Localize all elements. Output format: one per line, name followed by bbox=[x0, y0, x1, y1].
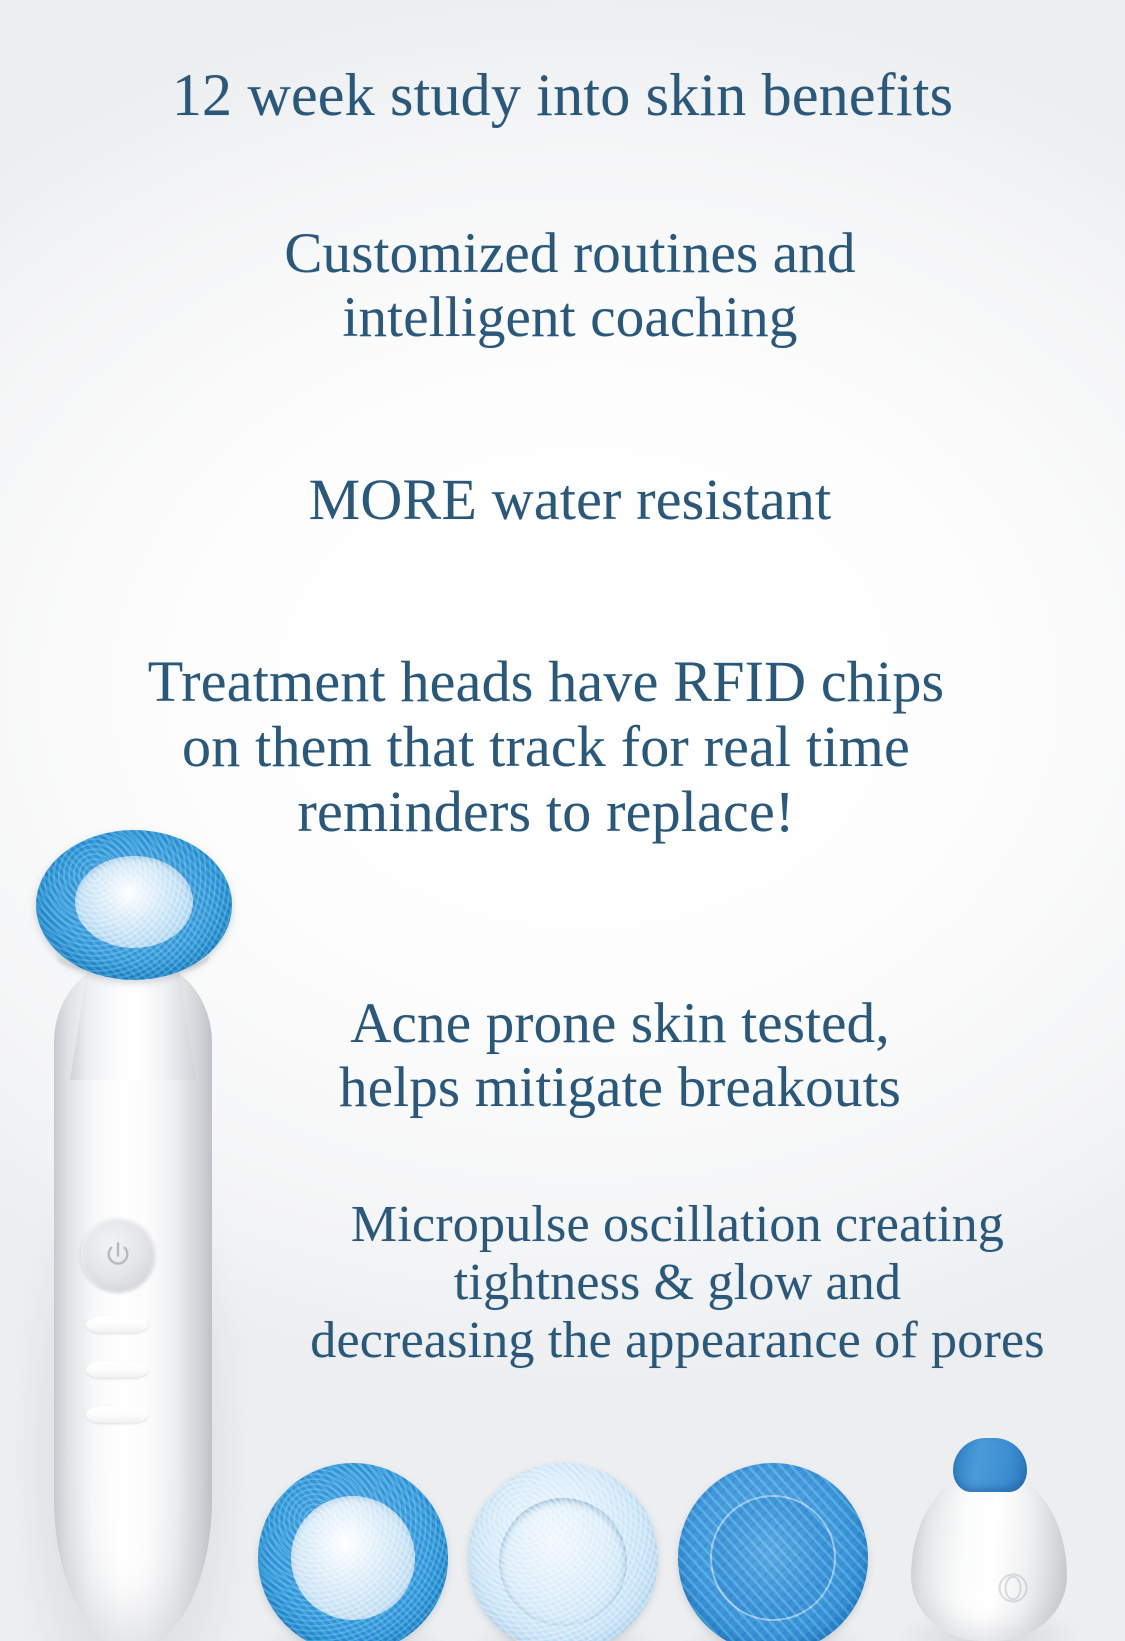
power-button[interactable] bbox=[81, 1218, 155, 1292]
feature-micropulse-oscillation: Micropulse oscillation creating tightnes… bbox=[230, 1196, 1125, 1371]
feature-water-resistant: MORE water resistant bbox=[120, 468, 1020, 533]
applicator-head-icon bbox=[905, 1438, 1073, 1641]
crosshatch-texture bbox=[678, 1463, 868, 1641]
brand-logo-icon bbox=[995, 1570, 1031, 1606]
feature-acne-prone-tested: Acne prone skin tested, helps mitigate b… bbox=[190, 992, 1050, 1120]
led-indicator-2 bbox=[86, 1361, 148, 1378]
brush-head-solid-blue-icon bbox=[678, 1463, 868, 1641]
bristle-texture bbox=[36, 830, 232, 980]
brush-head-dark-ring-icon bbox=[258, 1463, 448, 1641]
bristle-texture bbox=[258, 1463, 448, 1641]
led-indicator-1 bbox=[86, 1316, 148, 1333]
page-title: 12 week study into skin benefits bbox=[0, 62, 1125, 129]
product-feature-poster: 12 week study into skin benefits Customi… bbox=[0, 0, 1125, 1641]
led-indicator-3 bbox=[86, 1406, 148, 1423]
feature-customized-routines: Customized routines and intelligent coac… bbox=[120, 222, 1020, 350]
applicator-tip bbox=[953, 1438, 1027, 1492]
power-icon bbox=[100, 1237, 136, 1273]
feature-rfid-chips: Treatment heads have RFID chips on them … bbox=[36, 650, 1056, 845]
brush-head-icon bbox=[36, 830, 232, 980]
brush-head-light-ring-icon bbox=[468, 1463, 658, 1641]
accessory-row bbox=[0, 1430, 1125, 1641]
bristle-texture bbox=[468, 1463, 658, 1641]
applicator-body bbox=[911, 1470, 1067, 1641]
